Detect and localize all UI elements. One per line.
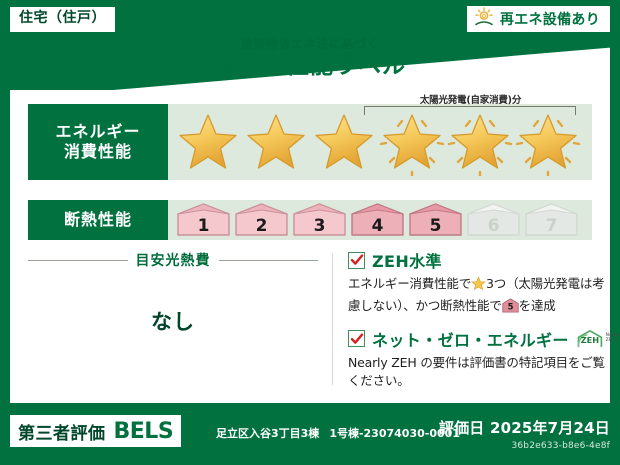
inline-grade-5-icon: 5 bbox=[502, 298, 519, 319]
insulation-performance-value: 1234567 bbox=[168, 200, 592, 240]
footer-bar: 第三者評価 BELS 足立区入谷3丁目3棟1号棟-23074030-0001 評… bbox=[0, 403, 620, 465]
claim-zeh-standard-head: ZEH水準 bbox=[348, 248, 606, 272]
renewable-badge-label: 再エネ設備あり bbox=[500, 9, 600, 29]
zeh-standard-checkbox[interactable] bbox=[348, 252, 365, 269]
energy-performance-label-key: エネルギー 消費性能 bbox=[28, 104, 168, 180]
utility-cost-value: なし bbox=[28, 306, 318, 336]
utility-cost-panel: 目安光熱費 なし bbox=[28, 250, 318, 390]
claim-net-zero-energy: ネット・ゼロ・エネルギー ZEH Nearly ZEH Nearly ZEH の… bbox=[348, 327, 606, 392]
star-icon-solar bbox=[378, 110, 446, 176]
heading-rule-right bbox=[219, 260, 319, 261]
insulation-grade-number: 3 bbox=[292, 218, 347, 235]
insulation-grade-scale: 1234567 bbox=[176, 203, 584, 237]
zeh-desc-part-1: エネルギー消費性能で bbox=[348, 276, 471, 291]
star-icon-solar bbox=[446, 110, 514, 176]
star-rating bbox=[174, 110, 586, 176]
insulation-grade-number: 1 bbox=[176, 218, 231, 235]
insulation-grade-number: 4 bbox=[350, 218, 405, 235]
insulation-grade-5: 5 bbox=[408, 203, 463, 237]
zeh-standard-title: ZEH水準 bbox=[372, 248, 442, 272]
house-type-tag: 住宅（住戸） bbox=[10, 7, 115, 32]
bels-logo-text: BELS bbox=[114, 419, 174, 444]
bels-certification-box: 第三者評価 BELS bbox=[10, 415, 181, 447]
evaluation-hash: 36b2e633-b8e6-4e8f bbox=[439, 441, 610, 451]
insulation-grade-7: 7 bbox=[524, 203, 579, 237]
evaluation-date-line: 評価日 2025年7月24日 bbox=[439, 417, 610, 438]
zeh-house-logo: ZEH Nearly ZEH bbox=[576, 327, 620, 351]
zeh-standard-description: エネルギー消費性能で3つ（太陽光発電は考慮しない）、かつ断熱性能で5を達成 bbox=[348, 275, 606, 319]
evaluation-date-label: 評価日 bbox=[439, 419, 485, 437]
insulation-grade-6: 6 bbox=[466, 203, 521, 237]
evaluation-date-value: 2025年7月24日 bbox=[490, 419, 610, 437]
heading-rule-left bbox=[28, 260, 128, 261]
insulation-grade-1: 1 bbox=[176, 203, 231, 237]
net-zero-energy-description: Nearly ZEH の要件は評価書の特記項目をご覧ください。 bbox=[348, 354, 606, 392]
claim-net-zero-energy-head: ネット・ゼロ・エネルギー ZEH Nearly ZEH bbox=[348, 327, 606, 351]
insulation-grade-4: 4 bbox=[350, 203, 405, 237]
energy-performance-row: エネルギー 消費性能 太陽光発電(自家消費)分 bbox=[28, 104, 592, 180]
solar-generation-caption: 太陽光発電(自家消費)分 bbox=[363, 92, 578, 106]
property-address-line: 足立区入谷3丁目3棟1号棟-23074030-0001 bbox=[216, 425, 460, 441]
net-zero-energy-title: ネット・ゼロ・エネルギー bbox=[372, 327, 569, 351]
third-party-eval-label: 第三者評価 bbox=[18, 419, 106, 444]
insulation-grade-2: 2 bbox=[234, 203, 289, 237]
insulation-performance-label-key: 断熱性能 bbox=[28, 200, 168, 240]
utility-cost-heading-text: 目安光熱費 bbox=[136, 250, 211, 270]
panel-divider bbox=[332, 253, 333, 385]
svg-text:ZEH: ZEH bbox=[581, 335, 600, 345]
star-icon-solar bbox=[514, 110, 582, 176]
energy-performance-value: 太陽光発電(自家消費)分 bbox=[168, 104, 592, 180]
svg-text:5: 5 bbox=[507, 303, 513, 313]
energy-key-line-2: 消費性能 bbox=[64, 142, 132, 162]
zeh-logo-sub: Nearly ZEH bbox=[606, 334, 620, 344]
insulation-grade-number: 2 bbox=[234, 218, 289, 235]
insulation-grade-number: 6 bbox=[466, 218, 521, 235]
renewable-energy-badge: D 再エネ設備あり bbox=[467, 6, 610, 32]
energy-key-line-1: エネルギー bbox=[55, 122, 140, 142]
property-address: 足立区入谷3丁目3棟 bbox=[216, 427, 319, 440]
insulation-grade-3: 3 bbox=[292, 203, 347, 237]
certification-claims-panel: ZEH水準 エネルギー消費性能で3つ（太陽光発電は考慮しない）、かつ断熱性能で5… bbox=[348, 248, 606, 399]
page-title: 省エネ性能ラベル bbox=[0, 54, 620, 79]
utility-cost-heading: 目安光熱費 bbox=[28, 250, 318, 270]
evaluation-info: 評価日 2025年7月24日 36b2e633-b8e6-4e8f bbox=[439, 417, 610, 451]
solar-sun-icon: D bbox=[473, 7, 495, 31]
svg-text:D: D bbox=[482, 14, 487, 20]
insulation-grade-number: 5 bbox=[408, 218, 463, 235]
star-icon bbox=[310, 110, 378, 176]
insulation-performance-row: 断熱性能 1234567 bbox=[28, 200, 592, 240]
star-icon bbox=[174, 110, 242, 176]
label-body-card: エネルギー 消費性能 太陽光発電(自家消費)分 断熱性能 1234567 目安光… bbox=[10, 90, 610, 403]
star-icon bbox=[242, 110, 310, 176]
claim-zeh-standard: ZEH水準 エネルギー消費性能で3つ（太陽光発電は考慮しない）、かつ断熱性能で5… bbox=[348, 248, 606, 319]
insulation-grade-number: 7 bbox=[524, 218, 579, 235]
net-zero-energy-checkbox[interactable] bbox=[348, 330, 365, 347]
title-subtitle: 建築物省エネ法に基づく bbox=[0, 38, 620, 51]
title-block: 建築物省エネ法に基づく 省エネ性能ラベル bbox=[0, 38, 620, 79]
energy-performance-label: 住宅（住戸） D 再エネ設備あり 建築物省エネ法に基づく 省エネ性能ラベル bbox=[0, 0, 620, 465]
star-icon bbox=[471, 276, 486, 297]
zeh-desc-part-3: を達成 bbox=[519, 298, 556, 313]
